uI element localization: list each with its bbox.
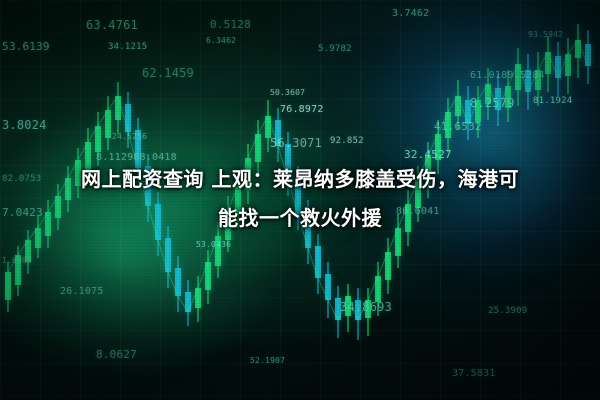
price-label: 3.7462 bbox=[392, 8, 429, 19]
price-label: 5.9782 bbox=[318, 44, 352, 54]
price-label: 1.6903 bbox=[2, 256, 32, 265]
price-label: 52.1907 bbox=[250, 356, 285, 365]
price-label: 34.8693 bbox=[340, 300, 392, 314]
price-label: 53.0436 bbox=[196, 240, 231, 249]
price-label: 24.5256 bbox=[112, 132, 147, 141]
price-label: 25.3909 bbox=[488, 306, 527, 316]
price-label: 8.2579 bbox=[470, 96, 515, 110]
news-thumbnail-image: 93.594261.0189.52848.257981.192441.65325… bbox=[0, 0, 600, 400]
price-label: 92.852 bbox=[330, 136, 364, 146]
price-label: 93.5942 bbox=[528, 30, 563, 39]
headline-overlay: 网上配资查询 上观：莱昂纳多膝盖受伤，海港可 能找一个救火外援 bbox=[0, 160, 600, 238]
price-label: 3.8024 bbox=[2, 118, 47, 132]
price-label: 41.6532 bbox=[434, 120, 482, 133]
price-label: 63.4761 bbox=[86, 18, 138, 32]
price-label: 53.6139 bbox=[2, 40, 50, 53]
price-label: 61.0189.5284 bbox=[470, 70, 545, 81]
price-label: 56.3071 bbox=[270, 136, 322, 150]
price-label: 81.1924 bbox=[533, 96, 572, 106]
price-label: 8.0627 bbox=[96, 348, 137, 361]
price-label: 50.3607 bbox=[270, 88, 305, 97]
price-label: 76.8972 bbox=[280, 104, 324, 115]
price-label: 34.1215 bbox=[108, 42, 147, 52]
price-label: 37.5831 bbox=[452, 368, 496, 379]
price-label: 6.3462 bbox=[206, 36, 236, 45]
price-label: 26.1075 bbox=[60, 286, 104, 297]
price-label: 0.5128 bbox=[210, 18, 251, 31]
headline-line-1: 网上配资查询 上观：莱昂纳多膝盖受伤，海港可 bbox=[14, 160, 586, 199]
headline-line-2: 能找一个救火外援 bbox=[14, 199, 586, 238]
price-label: 62.1459 bbox=[142, 66, 194, 80]
